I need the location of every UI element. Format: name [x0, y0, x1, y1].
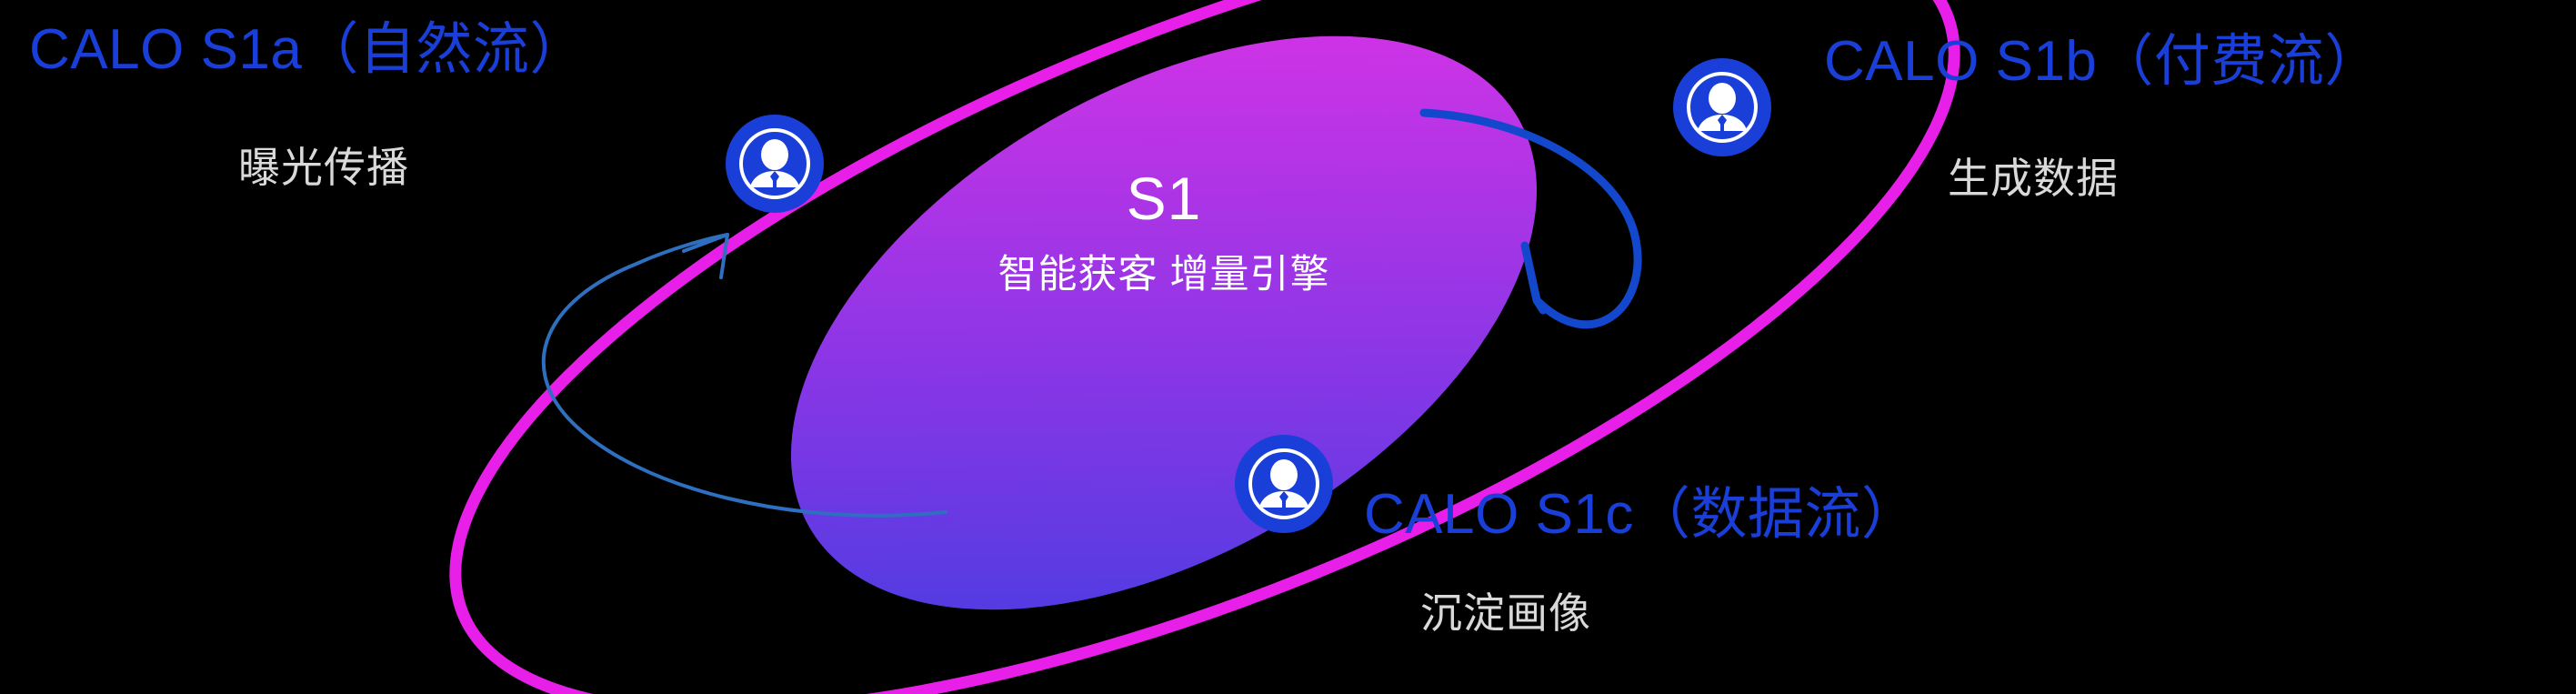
- node-s1c[interactable]: [1235, 435, 1333, 533]
- node-s1a-title: CALO S1a（自然流）: [29, 20, 586, 79]
- node-s1b-title: CALO S1b（付费流）: [1824, 32, 2381, 91]
- node-s1c-title: CALO S1c（数据流）: [1364, 485, 1918, 544]
- node-s1a[interactable]: [726, 115, 824, 213]
- person-icon: [1235, 435, 1333, 533]
- diagram-shapes: [0, 0, 2576, 694]
- node-s1b-subtitle: 生成数据: [1948, 156, 2119, 200]
- node-s1c-subtitle: 沉淀画像: [1420, 591, 1591, 635]
- diagram-canvas: S1 智能获客 增量引擎 CALO S1a（自然流） 曝光传播 CALO S1b…: [0, 0, 2576, 694]
- person-icon: [1673, 58, 1771, 156]
- node-s1a-subtitle: 曝光传播: [238, 146, 409, 189]
- person-icon: [726, 115, 824, 213]
- node-s1b[interactable]: [1673, 58, 1771, 156]
